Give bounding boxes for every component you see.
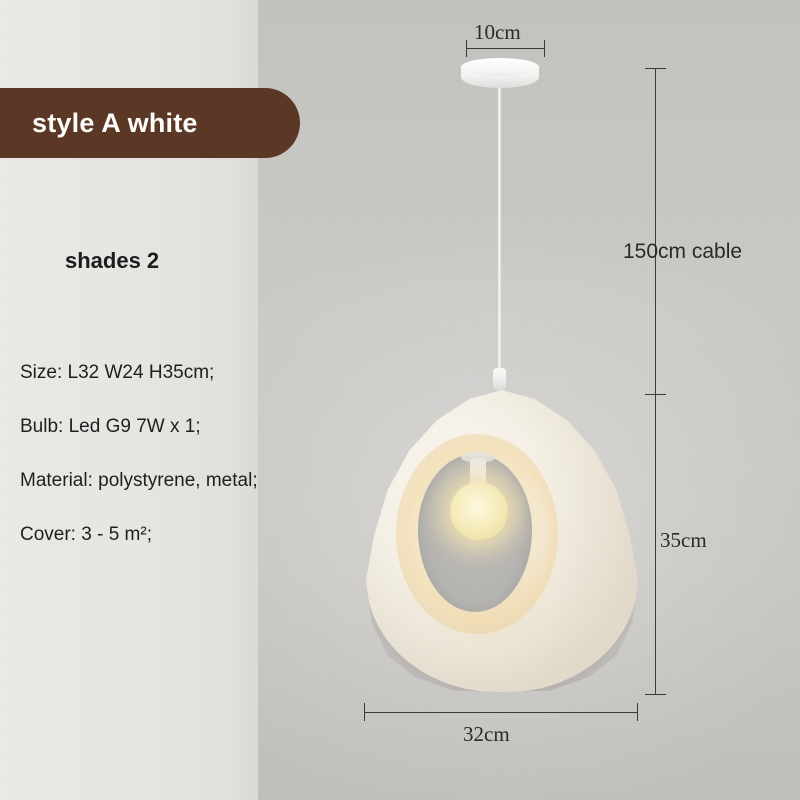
dimension-label-cable-length: 150cm cable — [623, 240, 742, 264]
product-image-scene: style A white shades 2 Size: L32 W24 H35… — [0, 0, 800, 800]
teardrop-shade — [366, 390, 638, 692]
canopy-top-face — [461, 58, 539, 76]
dimension-cap-canopy-right — [544, 40, 545, 57]
cord-ferrule — [493, 368, 506, 390]
spec-list: Size: L32 W24 H35cm; Bulb: Led G9 7W x 1… — [20, 362, 360, 578]
g9-led-bulb — [450, 482, 508, 540]
dimension-cap-shade-right — [637, 703, 638, 721]
dimension-cap-shade-bottom — [645, 694, 666, 695]
suspension-cord — [498, 88, 501, 376]
spec-line-size: Size: L32 W24 H35cm; — [20, 362, 360, 384]
ceiling-canopy — [461, 58, 539, 92]
product-title: shades 2 — [65, 248, 159, 274]
bulb-speckle-texture — [450, 482, 508, 540]
dimension-line-canopy-width — [466, 48, 544, 49]
dimension-line-shade-width — [364, 712, 637, 713]
style-badge-label: style A white — [32, 108, 198, 139]
dimension-label-shade-width: 32cm — [463, 722, 510, 747]
dimension-line-cable-length — [655, 68, 656, 394]
style-badge: style A white — [0, 88, 300, 158]
dimension-cap-shade-left — [364, 703, 365, 721]
spec-line-cover: Cover: 3 - 5 m²; — [20, 524, 360, 546]
dimension-cap-cable-top — [645, 68, 666, 69]
dimension-label-canopy-width: 10cm — [474, 20, 521, 45]
dimension-cap-shade-top — [645, 394, 666, 395]
spec-line-material: Material: polystyrene, metal; — [20, 470, 360, 492]
dimension-label-shade-height: 35cm — [660, 528, 707, 553]
dimension-line-shade-height — [655, 394, 656, 694]
spec-line-bulb: Bulb: Led G9 7W x 1; — [20, 416, 360, 438]
dimension-cap-canopy-left — [466, 40, 467, 57]
